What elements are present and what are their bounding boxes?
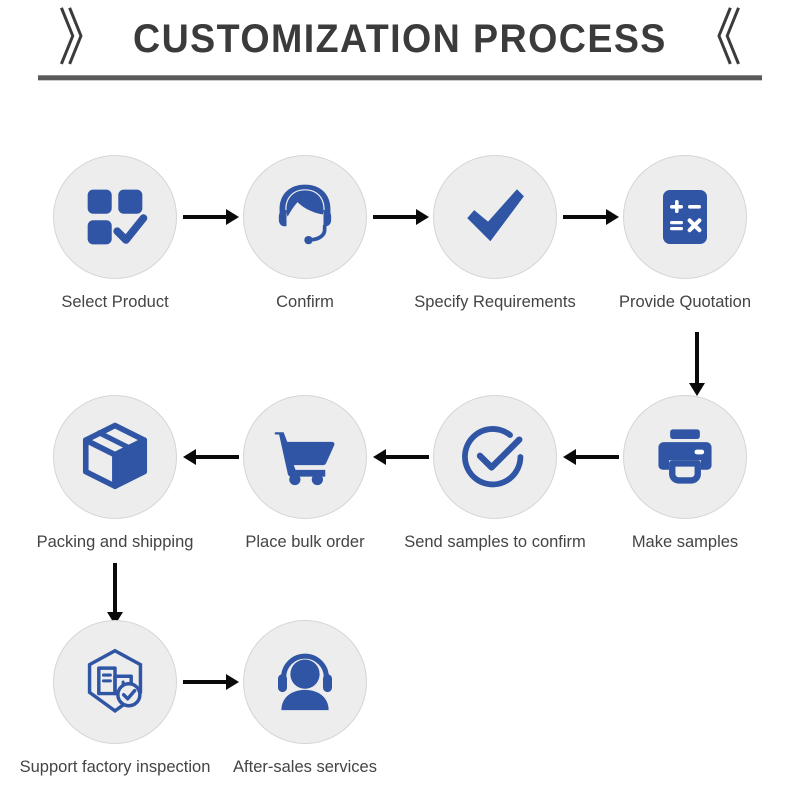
step-support-factory-inspection[interactable]: Support factory inspection [20, 620, 210, 778]
step-label: After-sales services [205, 757, 405, 778]
grid-check-icon [53, 155, 177, 279]
step-packing-and-shipping[interactable]: Packing and shipping [20, 395, 210, 553]
step-label: Confirm [205, 292, 405, 313]
checkmark-icon [433, 155, 557, 279]
headset-agent-icon [243, 155, 367, 279]
step-specify-requirements[interactable]: Specify Requirements [400, 155, 590, 313]
arrow-1-to-2 [183, 208, 239, 226]
printer-icon [623, 395, 747, 519]
step-send-samples-to-confirm[interactable]: Send samples to confirm [400, 395, 590, 553]
arrow-5-to-6 [563, 448, 619, 466]
calculator-icon [623, 155, 747, 279]
package-box-icon [53, 395, 177, 519]
step-place-bulk-order[interactable]: Place bulk order [210, 395, 400, 553]
page-header: 》 CUSTOMIZATION PROCESS 《 [0, 0, 800, 95]
step-label: Select Product [15, 292, 215, 313]
arrow-4-to-5 [688, 332, 706, 396]
headphones-person-icon [243, 620, 367, 744]
circle-check-icon [433, 395, 557, 519]
step-provide-quotation[interactable]: Provide Quotation [590, 155, 780, 313]
step-label: Provide Quotation [585, 292, 785, 313]
step-label: Specify Requirements [395, 292, 595, 313]
process-flow: Select Product Confirm Specify Requireme… [0, 95, 800, 800]
chevron-right-decoration: 《 [690, 8, 742, 69]
title-row: 》 CUSTOMIZATION PROCESS 《 [0, 10, 800, 68]
arrow-3-to-4 [563, 208, 619, 226]
arrow-9-to-10 [183, 673, 239, 691]
step-label: Send samples to confirm [395, 532, 595, 553]
arrow-8-to-9 [106, 563, 124, 625]
factory-shield-check-icon [53, 620, 177, 744]
title-divider [38, 75, 762, 81]
step-label: Support factory inspection [15, 757, 215, 778]
arrow-7-to-8 [183, 448, 239, 466]
page-title: CUSTOMIZATION PROCESS [133, 17, 667, 62]
arrow-6-to-7 [373, 448, 429, 466]
step-label: Packing and shipping [15, 532, 215, 553]
step-make-samples[interactable]: Make samples [590, 395, 780, 553]
chevron-left-decoration: 》 [58, 8, 110, 69]
step-label: Place bulk order [205, 532, 405, 553]
step-label: Make samples [585, 532, 785, 553]
step-select-product[interactable]: Select Product [20, 155, 210, 313]
arrow-2-to-3 [373, 208, 429, 226]
shopping-cart-icon [243, 395, 367, 519]
step-confirm[interactable]: Confirm [210, 155, 400, 313]
step-after-sales-services[interactable]: After-sales services [210, 620, 400, 778]
